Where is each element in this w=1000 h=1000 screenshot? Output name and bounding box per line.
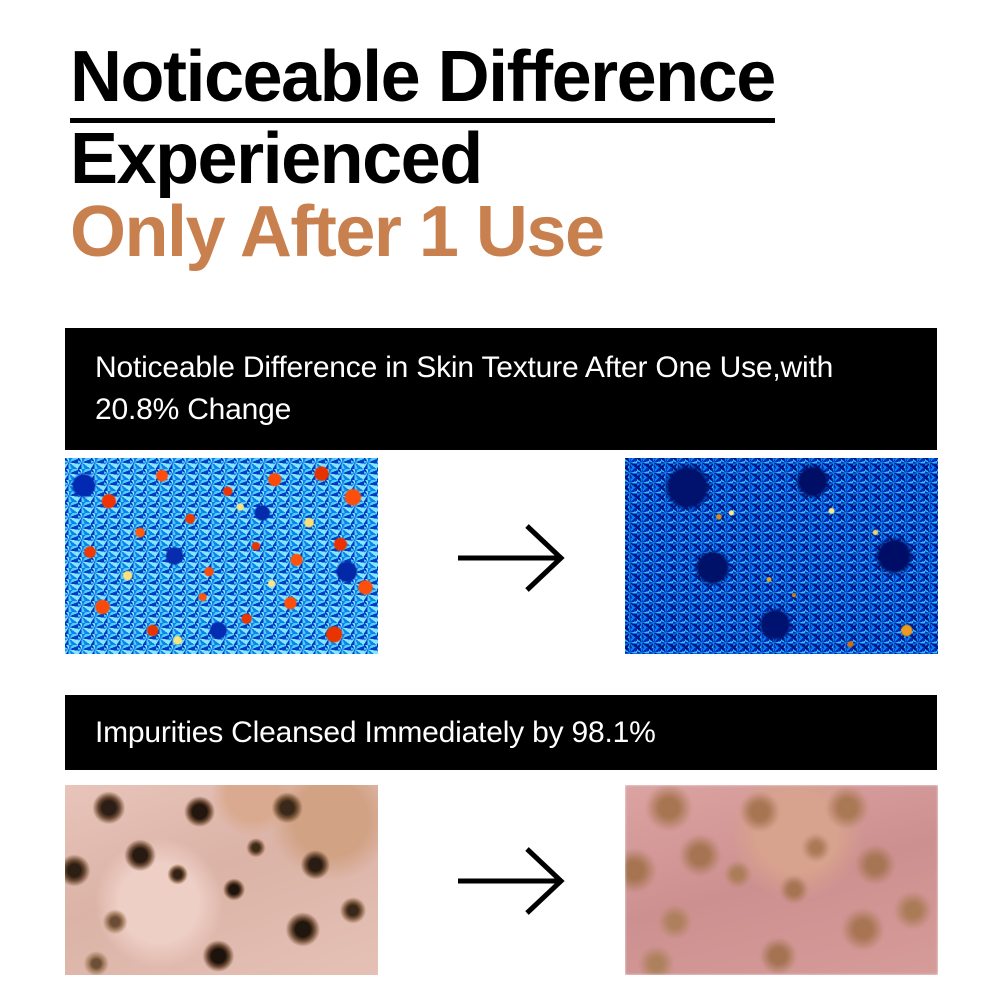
headline-line-1-wrapper: Noticeable Difference: [70, 40, 970, 123]
texture-after-image: [625, 458, 938, 654]
texture-before-image: [65, 458, 378, 654]
texture-heatmap-after-surface: [625, 458, 938, 654]
headline-line-2: Experienced: [70, 123, 970, 196]
texture-claim-text: Noticeable Difference in Skin Texture Af…: [65, 347, 937, 431]
headline-line-1: Noticeable Difference: [70, 40, 775, 123]
texture-before-after-row: [0, 458, 1000, 658]
arrow-right-icon: [455, 843, 575, 924]
texture-heatmap-before-surface: [65, 458, 378, 654]
headline-block: Noticeable Difference Experienced Only A…: [70, 40, 970, 269]
impurities-after-image: [625, 785, 938, 975]
impurities-claim-banner: Impurities Cleansed Immediately by 98.1%: [65, 695, 937, 770]
impurities-before-image: [65, 785, 378, 975]
texture-claim-banner: Noticeable Difference in Skin Texture Af…: [65, 328, 937, 450]
product-claims-graphic: Noticeable Difference Experienced Only A…: [0, 0, 1000, 1000]
arrow-right-icon: [455, 520, 575, 601]
impurities-claim-text: Impurities Cleansed Immediately by 98.1%: [65, 712, 686, 754]
headline-line-3: Only After 1 Use: [70, 196, 970, 269]
skin-pores-after-surface: [625, 785, 938, 975]
impurities-before-after-row: [0, 785, 1000, 977]
skin-pores-before-surface: [65, 785, 378, 975]
